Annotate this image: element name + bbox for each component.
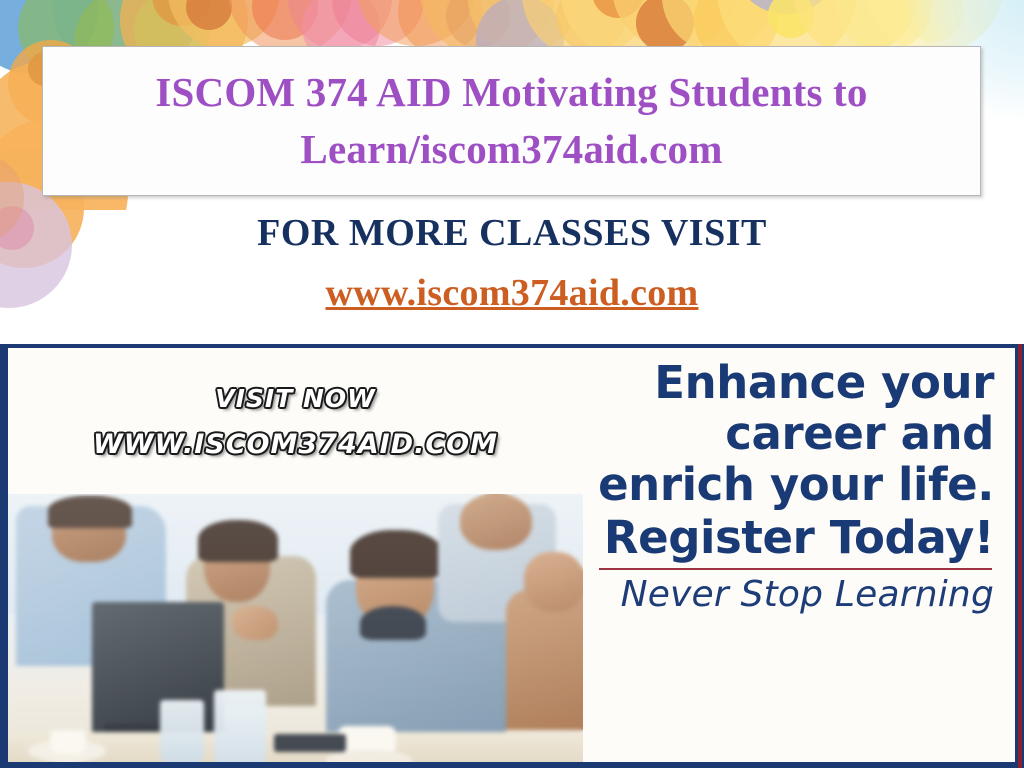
banner-headline: Enhance your career and enrich your life… bbox=[593, 358, 994, 511]
banner-cta-text: Register Today! bbox=[593, 513, 994, 563]
decorative-circle bbox=[732, 0, 840, 14]
divider-rule bbox=[599, 568, 992, 570]
decorative-circle bbox=[168, 0, 280, 48]
decorative-circle bbox=[612, 0, 738, 50]
decorative-circle bbox=[186, 0, 232, 30]
subheading-block: FOR MORE CLASSES VISIT www.iscom374aid.c… bbox=[0, 212, 1024, 315]
visit-callout-block: VISIT NOW WWW.ISCOM374AID.COM bbox=[8, 384, 583, 460]
subheading-text: FOR MORE CLASSES VISIT bbox=[0, 212, 1024, 256]
promo-banner-inner: VISIT NOW WWW.ISCOM374AID.COM Enhance yo… bbox=[8, 348, 1024, 762]
presentation-slide: ISCOM 374 AID Motivating Students to Lea… bbox=[0, 0, 1024, 768]
title-box: ISCOM 374 AID Motivating Students to Lea… bbox=[42, 46, 981, 196]
decorative-circle bbox=[332, 0, 424, 46]
decorative-circle bbox=[636, 0, 694, 52]
decorative-circle bbox=[662, 0, 774, 52]
visit-now-text: VISIT NOW bbox=[8, 384, 583, 413]
decorative-circle bbox=[768, 0, 814, 38]
photo-haze bbox=[8, 494, 583, 762]
decorative-circle bbox=[152, 0, 212, 26]
decorative-circle bbox=[356, 0, 476, 46]
decorative-circle bbox=[252, 0, 318, 40]
banner-photo-column: VISIT NOW WWW.ISCOM374AID.COM bbox=[8, 348, 583, 762]
visit-url-text: WWW.ISCOM374AID.COM bbox=[8, 429, 583, 460]
decorative-circle bbox=[556, 0, 626, 52]
banner-right-stripe bbox=[1015, 344, 1024, 768]
page-title: ISCOM 374 AID Motivating Students to Lea… bbox=[80, 64, 942, 177]
promo-banner: VISIT NOW WWW.ISCOM374AID.COM Enhance yo… bbox=[0, 344, 1024, 768]
decorative-circle bbox=[592, 0, 644, 18]
banner-tagline: Never Stop Learning bbox=[593, 574, 994, 615]
decorative-circle bbox=[288, 0, 392, 50]
decorative-circle bbox=[446, 0, 510, 48]
banner-text-column: Enhance your career and enrich your life… bbox=[583, 348, 1024, 762]
students-meeting-photo bbox=[8, 494, 583, 762]
website-url-link[interactable]: www.iscom374aid.com bbox=[0, 271, 1024, 315]
